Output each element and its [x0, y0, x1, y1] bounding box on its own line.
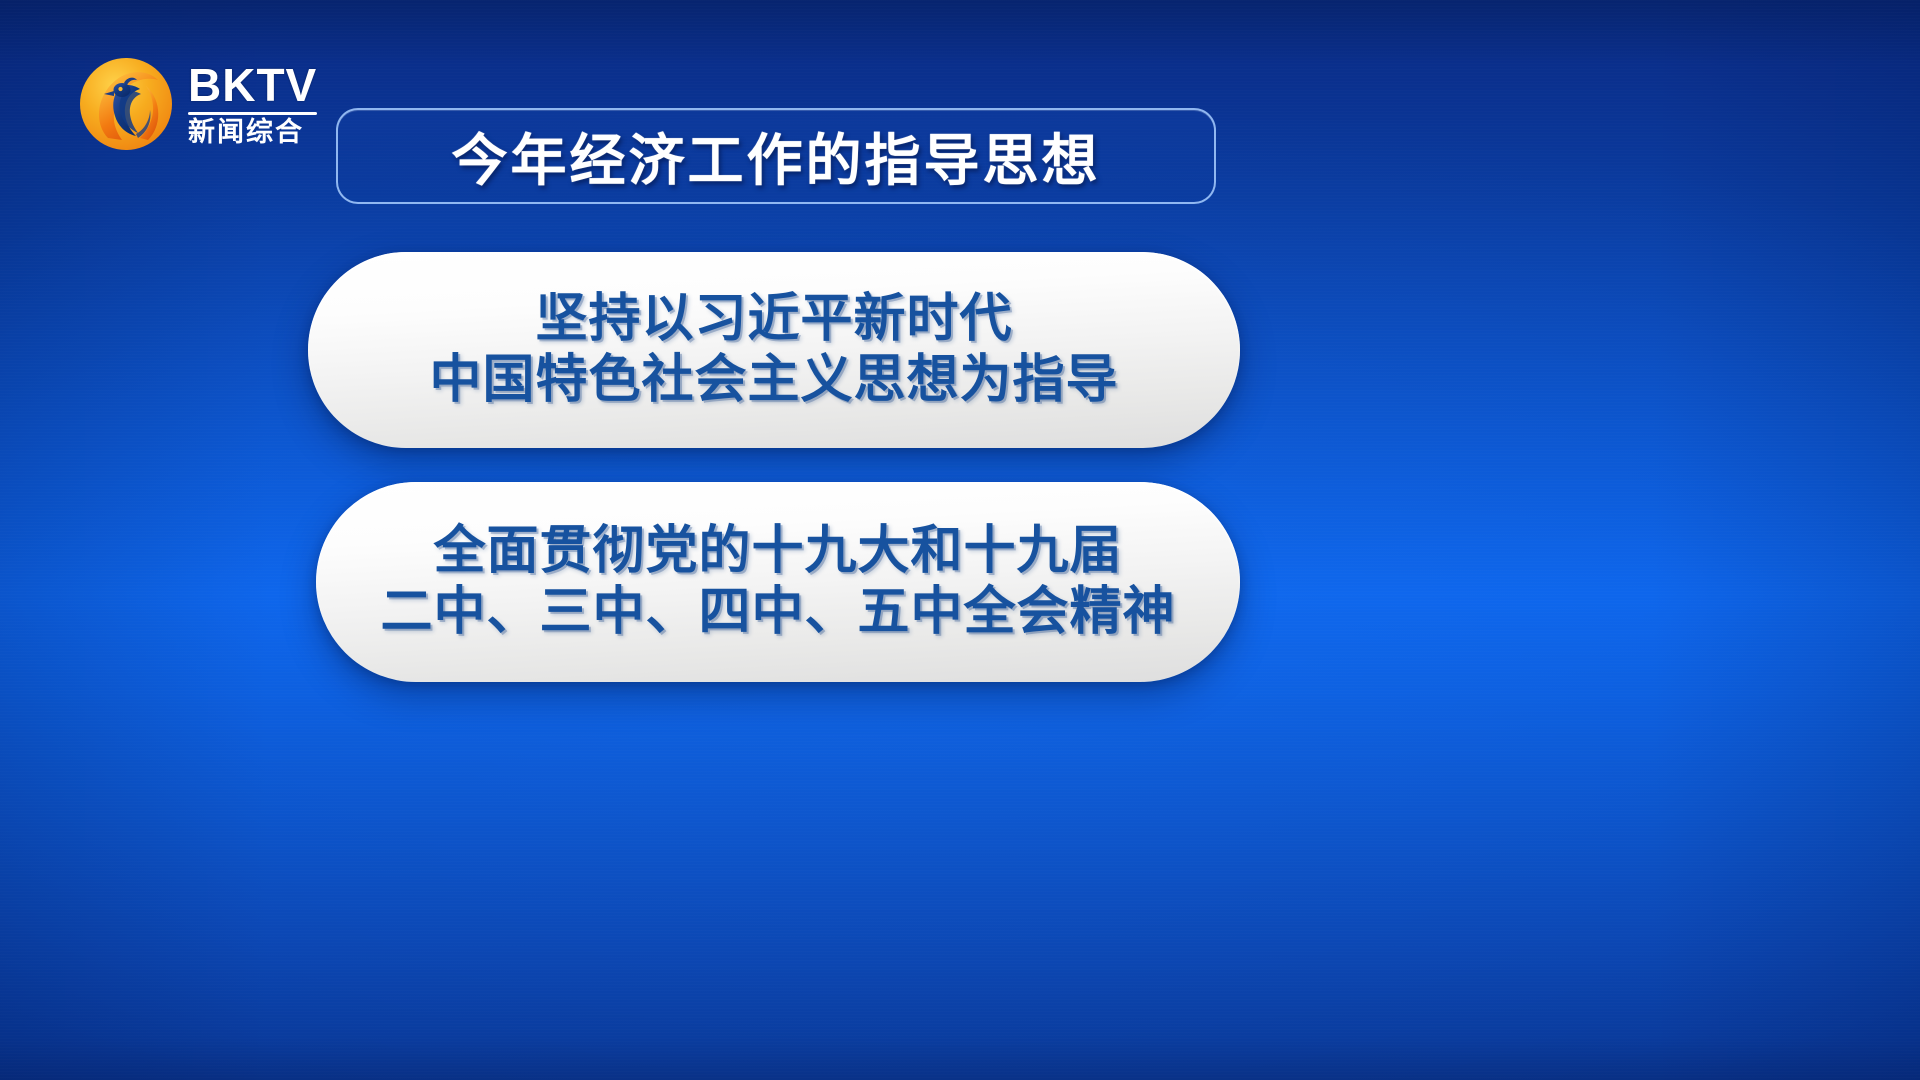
- page-title: 今年经济工作的指导思想: [452, 116, 1101, 197]
- channel-subtitle: 新闻综合: [188, 119, 317, 147]
- card-line: 中国特色社会主义思想为指导: [429, 350, 1118, 411]
- phoenix-bird-emblem-icon: [78, 56, 174, 152]
- channel-wordmark: BKTV: [188, 62, 317, 109]
- channel-logo-divider: [188, 112, 317, 115]
- channel-logo-text: BKTV 新闻综合: [188, 60, 317, 147]
- card-line: 二中、三中、四中、五中全会精神: [380, 582, 1175, 643]
- channel-logo: BKTV 新闻综合: [78, 48, 348, 160]
- card-line: 坚持以习近平新时代: [535, 289, 1012, 350]
- broadcast-slate: BKTV 新闻综合 今年经济工作的指导思想 坚持以习近平新时代 中国特色社会主义…: [0, 0, 1920, 1080]
- card-line: 全面贯彻党的十九大和十九届: [433, 521, 1122, 582]
- title-banner: 今年经济工作的指导思想: [336, 108, 1216, 204]
- content-card: 全面贯彻党的十九大和十九届 二中、三中、四中、五中全会精神: [316, 482, 1240, 682]
- content-card: 坚持以习近平新时代 中国特色社会主义思想为指导: [308, 252, 1240, 448]
